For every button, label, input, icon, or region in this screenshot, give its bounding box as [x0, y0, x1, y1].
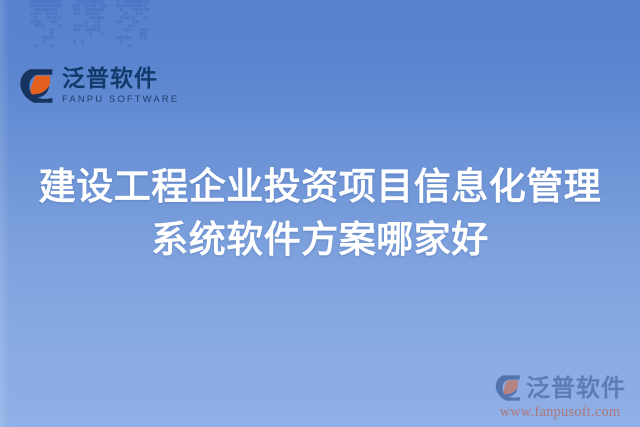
- watermark: 泛普软件 www.fanpusoft.com: [490, 373, 630, 421]
- headline-line-2: 系统软件方案哪家好: [0, 213, 640, 266]
- promo-banner: 泛普软件 FANPU SOFTWARE 建设工程企业投资项目信息化管理 系统软件…: [0, 0, 640, 427]
- headline: 建设工程企业投资项目信息化管理 系统软件方案哪家好: [0, 160, 640, 266]
- brand-name-en: FANPU SOFTWARE: [62, 95, 179, 105]
- brand-logo: 泛普软件 FANPU SOFTWARE: [18, 66, 179, 106]
- pixel-grid-column: [116, 0, 150, 58]
- headline-line-1: 建设工程企业投资项目信息化管理: [0, 160, 640, 213]
- pixel-grid-column: [30, 0, 64, 58]
- brand-name-cn: 泛普软件: [62, 68, 179, 91]
- watermark-url: www.fanpusoft.com: [500, 404, 621, 421]
- watermark-brand-name: 泛普软件: [526, 376, 626, 400]
- brand-logo-text: 泛普软件 FANPU SOFTWARE: [62, 68, 179, 105]
- watermark-logo-row: 泛普软件: [494, 373, 626, 403]
- pixel-grid-decoration: [30, 0, 150, 60]
- fanpu-logo-mark-icon: [494, 373, 524, 403]
- fanpu-logo-mark-icon: [18, 66, 58, 106]
- pixel-grid-column: [73, 0, 107, 58]
